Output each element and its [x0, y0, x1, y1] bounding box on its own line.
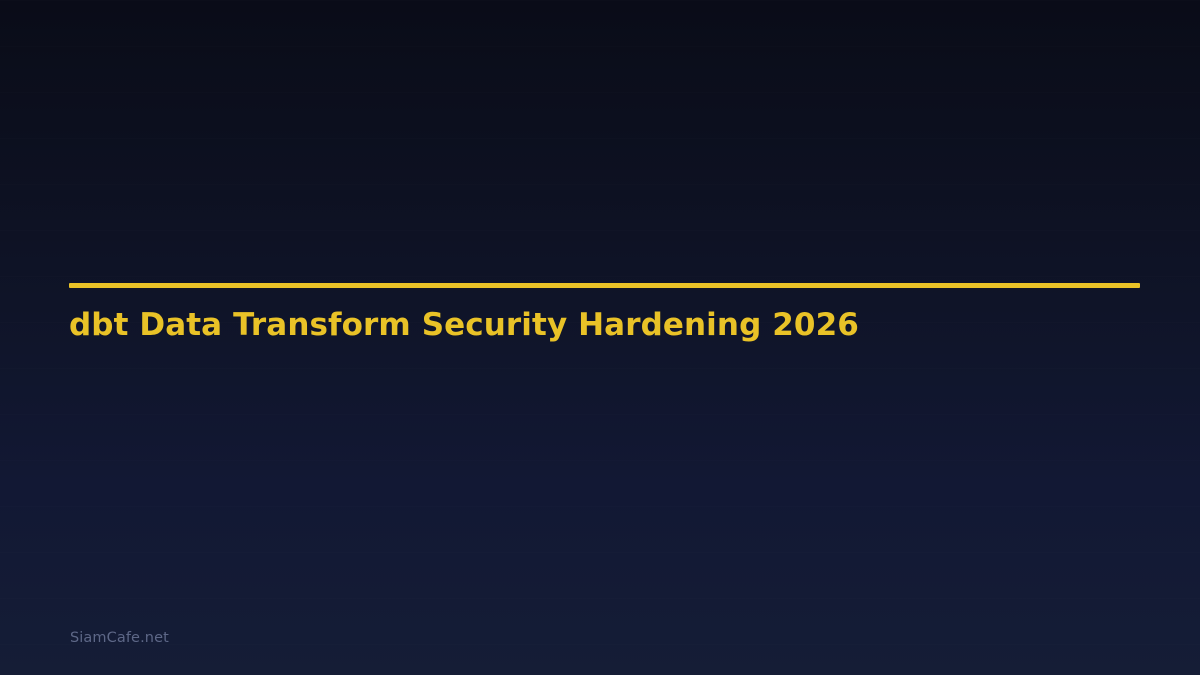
title-block: dbt Data Transform Security Hardening 20…: [69, 283, 1140, 344]
title-slide: dbt Data Transform Security Hardening 20…: [0, 0, 1200, 675]
page-title: dbt Data Transform Security Hardening 20…: [69, 288, 1140, 344]
footer-watermark: SiamCafe.net: [70, 630, 169, 646]
